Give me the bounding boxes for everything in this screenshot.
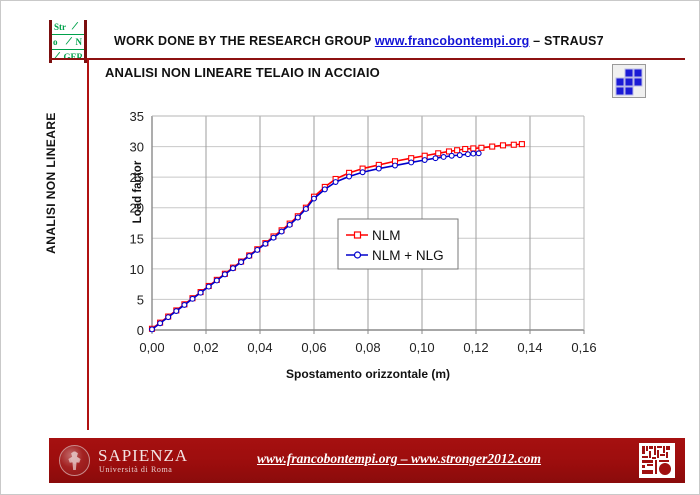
chart-data-point — [449, 153, 454, 158]
chart-data-point — [409, 160, 414, 165]
stronger-logo-text-o: o — [53, 37, 58, 47]
chart-legend-label-1: NLM + NLG — [372, 248, 444, 263]
chart-x-tick-label: 0,12 — [463, 340, 488, 355]
stronger-logo-line-2: o/N — [52, 34, 84, 48]
chart-data-point — [158, 321, 163, 326]
stronger-logo-slash-1: / — [71, 20, 79, 33]
chart-data-point — [441, 155, 446, 160]
page-title: ANALISI NON LINEARE TELAIO IN ACCIAIO — [105, 65, 380, 80]
header-title: WORK DONE BY THE RESEARCH GROUP www.fran… — [114, 34, 604, 48]
slide-header: Str/ o/N /GER WORK DONE BY THE RESEARCH … — [1, 1, 700, 58]
chart-data-point — [519, 142, 524, 147]
chart-y-tick-label: 35 — [130, 109, 144, 124]
chart-data-point — [150, 327, 155, 332]
sidebar-section-label: ANALISI NON LINEARE — [44, 103, 58, 263]
chart-data-point — [190, 296, 195, 301]
chart-data-point — [376, 166, 381, 171]
chart-data-point — [471, 151, 476, 156]
chart-y-tick-label: 15 — [130, 231, 144, 246]
chart-data-point — [239, 260, 244, 265]
chart-y-tick-label: 5 — [137, 292, 144, 307]
chart-x-tick-label: 0,08 — [355, 340, 380, 355]
chart-data-point — [198, 290, 203, 295]
header-divider — [49, 58, 685, 60]
chart-data-point — [490, 144, 495, 149]
chart-data-point — [174, 309, 179, 314]
chart-data-point — [271, 235, 276, 240]
chart-data-point — [471, 146, 476, 151]
stronger-logo: Str/ o/N /GER — [49, 20, 87, 63]
chart-data-point — [436, 151, 441, 156]
chart-x-tick-label: 0,00 — [139, 340, 164, 355]
chart-data-point — [214, 278, 219, 283]
chart-x-tick-label: 0,02 — [193, 340, 218, 355]
chart-data-point — [360, 170, 365, 175]
chart-legend: NLMNLM + NLG — [338, 219, 458, 269]
chart-data-point — [231, 266, 236, 271]
chart-data-point — [455, 148, 460, 153]
chart-data-point — [466, 152, 471, 157]
chart-data-point — [166, 315, 171, 320]
chart-data-point — [463, 147, 468, 152]
chart-data-point — [333, 180, 338, 185]
chart-data-point — [457, 153, 462, 158]
sapienza-seal-figure — [66, 451, 83, 470]
chart-x-tick-label: 0,16 — [571, 340, 596, 355]
chart-data-point — [322, 187, 327, 192]
chart-data-point — [279, 229, 284, 234]
chart-y-tick-label: 25 — [130, 170, 144, 185]
chart-data-point — [247, 254, 252, 259]
header-title-prefix: WORK DONE BY THE RESEARCH GROUP — [114, 34, 371, 48]
stronger-logo-text-ger: GER — [63, 52, 83, 62]
chart-y-tick-label: 10 — [130, 262, 144, 277]
stronger-logo-slash-2: / — [65, 34, 73, 48]
chart-data-point — [393, 163, 398, 168]
chart-y-tick-label: 0 — [137, 323, 144, 338]
chart-y-tick-label: 30 — [130, 140, 144, 155]
chart-data-point — [206, 284, 211, 289]
stronger-logo-text-str: Str — [54, 22, 66, 32]
chart-data-point — [255, 248, 260, 253]
chart-data-point — [182, 303, 187, 308]
chart-data-point — [347, 174, 352, 179]
load-displacement-chart: 051015202530350,000,020,040,060,080,100,… — [93, 93, 653, 393]
chart-data-point — [287, 222, 292, 227]
stronger-logo-line-1: Str/ — [52, 20, 84, 34]
chart-data-point — [476, 151, 481, 156]
chart-data-point — [422, 158, 427, 163]
chart-data-point — [501, 143, 506, 148]
stronger-logo-text-n: N — [76, 35, 83, 48]
chart-y-tick-label: 20 — [130, 201, 144, 216]
university-subtitle: Università di Roma — [99, 465, 172, 474]
chart-data-point — [223, 272, 228, 277]
chart-x-tick-label: 0,10 — [409, 340, 434, 355]
slide-footer: SAPIENZA Università di Roma www.francobo… — [49, 438, 685, 483]
header-title-suffix: – STRAUS7 — [533, 34, 604, 48]
chart-data-point — [433, 156, 438, 161]
chart-data-point — [312, 196, 317, 201]
fbo-logo — [639, 443, 675, 478]
chart-data-point — [263, 241, 268, 246]
chart-data-point — [304, 207, 309, 212]
chart-data-point — [295, 215, 300, 220]
chart-x-tick-label: 0,06 — [301, 340, 326, 355]
stronger-logo-slash-3: / — [53, 49, 61, 63]
chart-legend-label-0: NLM — [372, 228, 401, 243]
chart-container: 051015202530350,000,020,040,060,080,100,… — [93, 93, 653, 393]
chart-data-point — [511, 142, 516, 147]
footer-website-link[interactable]: www.francobontempi.org – www.stronger201… — [199, 451, 599, 467]
stronger-logo-line-3: /GER — [52, 49, 84, 63]
university-name: SAPIENZA — [98, 447, 188, 465]
chart-data-point — [479, 145, 484, 150]
slide-root: Str/ o/N /GER WORK DONE BY THE RESEARCH … — [0, 0, 700, 495]
header-website-link[interactable]: www.francobontempi.org — [375, 34, 530, 48]
sapienza-seal-icon — [59, 445, 90, 476]
chart-x-tick-label: 0,14 — [517, 340, 542, 355]
chart-x-tick-label: 0,04 — [247, 340, 272, 355]
left-vertical-rule — [87, 58, 89, 430]
